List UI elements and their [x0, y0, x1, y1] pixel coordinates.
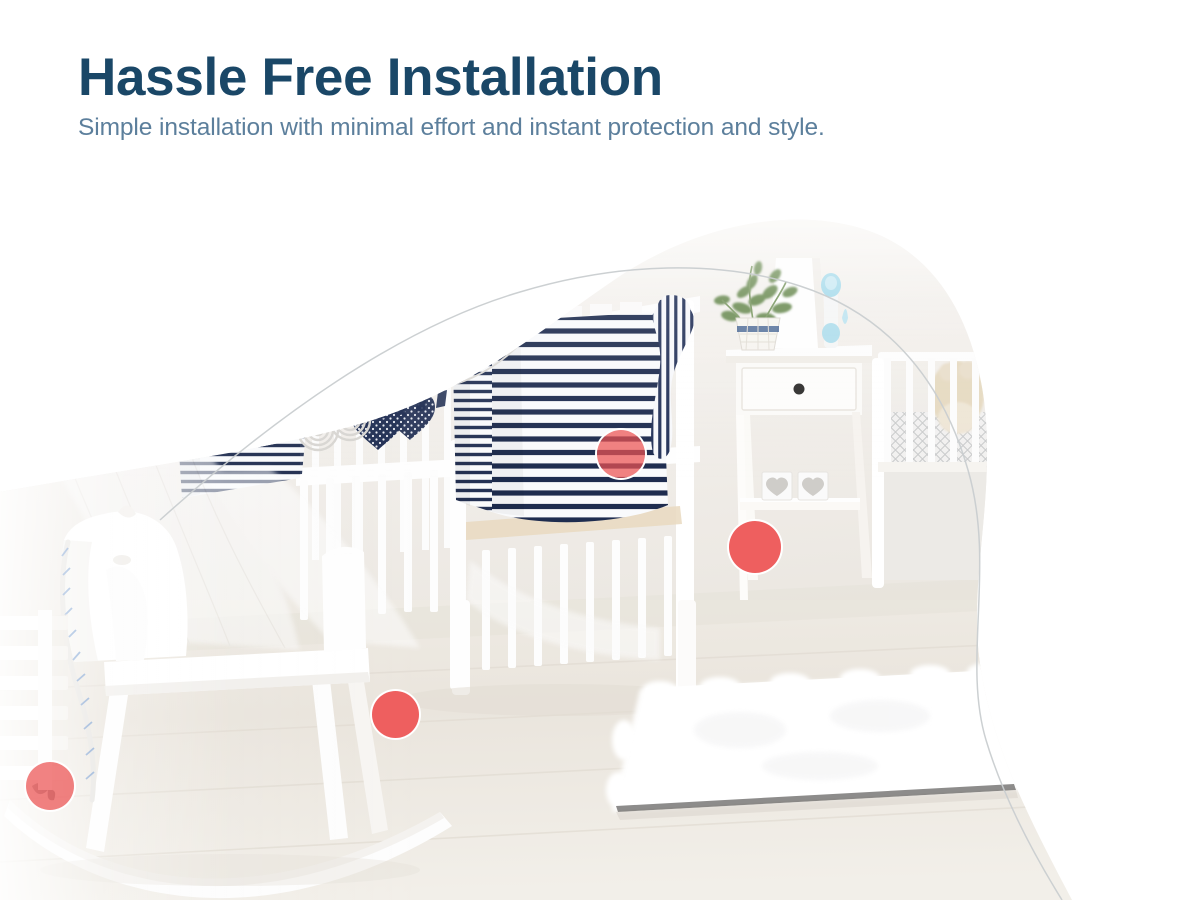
marker-dot-rocking-horse[interactable]: [26, 762, 74, 810]
page-root: Hassle Free Installation Simple installa…: [0, 0, 1200, 900]
marker-dot-side-table[interactable]: [729, 521, 781, 573]
shaggy-rug: [606, 663, 1020, 820]
marker-dot-cot-bumper[interactable]: [597, 430, 645, 478]
marker-dot-floor[interactable]: [372, 691, 419, 738]
page-subtitle: Simple installation with minimal effort …: [78, 112, 825, 144]
page-title: Hassle Free Installation: [78, 48, 825, 108]
header-block: Hassle Free Installation Simple installa…: [78, 48, 825, 144]
